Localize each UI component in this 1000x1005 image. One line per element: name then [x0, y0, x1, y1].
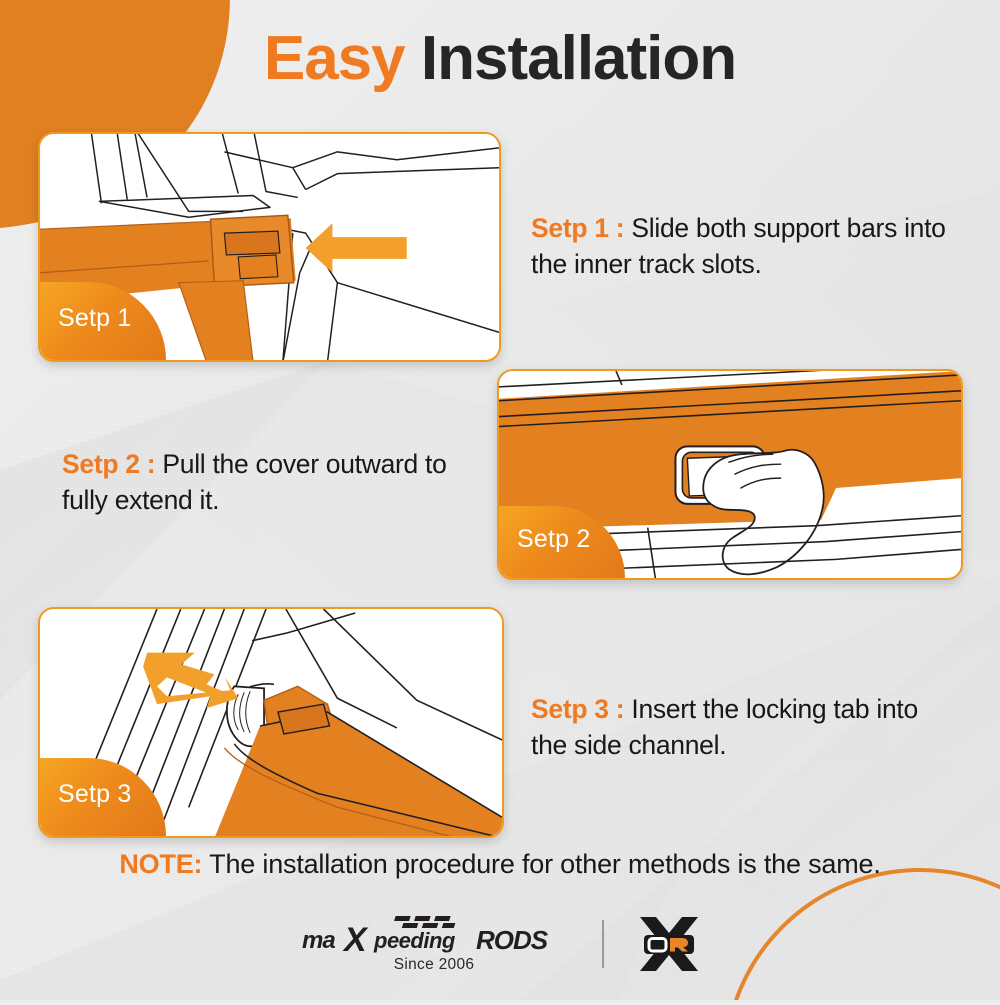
step-1-description: Setp 1 : Slide both support bars into th… [531, 211, 961, 282]
step-2-label: Setp 2 : [62, 449, 162, 479]
step-2-image-panel: Setp 2 [497, 369, 963, 580]
svg-text:peeding: peeding [373, 928, 456, 953]
step-1-image-panel: Setp 1 [38, 132, 501, 362]
footer-divider [602, 920, 604, 968]
note-label: NOTE: [119, 849, 202, 879]
step-3-image-panel: Setp 3 [38, 607, 504, 838]
or-x-badge-logo [638, 915, 700, 973]
maxpeedingrods-wordmark: ma X peeding RODS [300, 915, 568, 955]
step-1-label: Setp 1 : [531, 213, 631, 243]
note-line: NOTE: The installation procedure for oth… [0, 849, 1000, 880]
title-main: Installation [421, 24, 736, 93]
title-accent: Easy [264, 24, 405, 93]
page-title: Easy Installation [0, 26, 1000, 91]
footer: ma X peeding RODS Since 2006 [0, 905, 1000, 983]
svg-text:ma: ma [302, 927, 335, 954]
svg-text:RODS: RODS [476, 925, 549, 955]
svg-text:X: X [342, 921, 369, 955]
note-body: The installation procedure for other met… [202, 849, 880, 879]
step-3-description: Setp 3 : Insert the locking tab into the… [531, 692, 951, 763]
since-text: Since 2006 [394, 956, 475, 974]
maxpeedingrods-logo: ma X peeding RODS Since 2006 [300, 915, 568, 974]
step-2-description: Setp 2 : Pull the cover outward to fully… [62, 447, 482, 518]
step-3-label: Setp 3 : [531, 694, 631, 724]
